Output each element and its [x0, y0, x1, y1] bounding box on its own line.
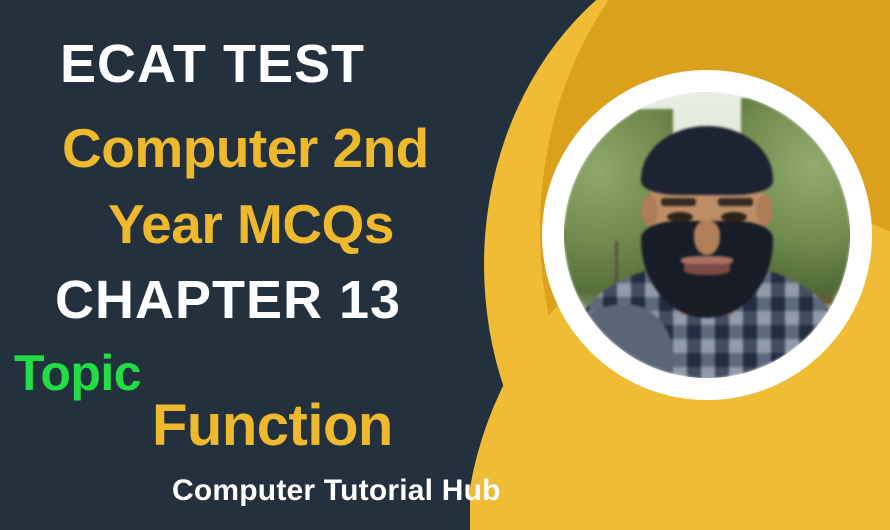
portrait-white-ring	[542, 70, 872, 400]
photo-background-sky	[564, 92, 850, 224]
photo-person-eyebrow-right	[718, 198, 752, 207]
gold-decoration-panel	[470, 0, 890, 530]
presenter-portrait-photo	[564, 92, 850, 378]
subject-line-2: Year MCQs	[108, 192, 394, 256]
topic-value: Function	[152, 392, 393, 459]
photo-person-eye-left	[667, 212, 693, 222]
photo-person-shoulder	[564, 304, 673, 378]
video-thumbnail: ECAT TEST Computer 2nd Year MCQs CHAPTER…	[0, 0, 890, 530]
photo-person-hair	[641, 126, 773, 195]
photo-background-wall	[564, 218, 850, 304]
gold-arc-dark-shape	[540, 0, 890, 530]
photo-tree-trunk	[615, 241, 618, 315]
brand-name: Computer Tutorial Hub	[172, 474, 501, 508]
photo-person-ear-left	[641, 195, 658, 226]
photo-person-face	[650, 143, 764, 286]
photo-tree-left	[564, 109, 673, 315]
photo-person-shirt	[575, 264, 838, 378]
photo-person-eye-right	[721, 212, 747, 222]
photo-person-neck	[681, 264, 732, 315]
topic-label: Topic	[14, 344, 141, 402]
photo-person-mouth	[684, 264, 730, 275]
photo-person-ear-right	[756, 195, 773, 226]
photo-tree-right	[741, 98, 850, 310]
photo-background-red-panel-2	[799, 235, 833, 304]
exam-title: ECAT TEST	[60, 33, 365, 95]
gold-blob-shape	[484, 0, 890, 530]
photo-background-red-panel	[690, 224, 736, 298]
chapter-title: CHAPTER 13	[55, 269, 401, 331]
gold-arc-light-shape	[470, 206, 890, 530]
photo-person-beard	[641, 221, 773, 318]
subject-line-1: Computer 2nd	[62, 116, 429, 180]
photo-person-upper-lip	[681, 256, 732, 265]
photo-person-eyebrow-left	[661, 198, 695, 207]
photo-softening-overlay	[564, 92, 850, 378]
photo-person-nose	[694, 221, 720, 255]
